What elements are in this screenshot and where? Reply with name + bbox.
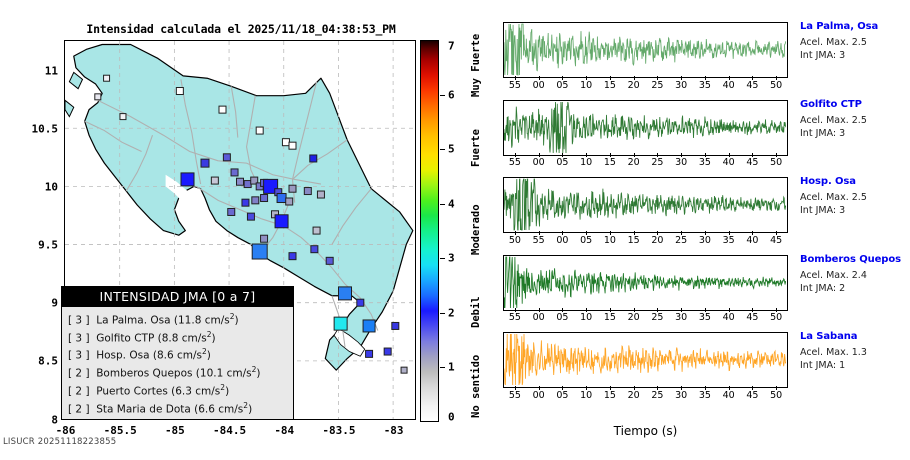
jma-legend-row: [ 2 ] Sta Maria de Dota (6.6 cm/s2)	[68, 399, 289, 417]
waveform-trace	[504, 101, 786, 154]
waveform-time-tick: 00	[533, 80, 545, 91]
waveform-time-axis: 550005101520253035404550	[503, 157, 788, 171]
waveform-time-tick: 15	[604, 80, 616, 91]
waveform-time-tick: 40	[723, 390, 735, 401]
waveform-panel[interactable]	[503, 22, 788, 78]
waveform-jma-intensity: Int JMA: 1	[800, 360, 908, 371]
waveform-time-tick: 50	[770, 157, 782, 168]
waveform-tick-mark	[705, 76, 706, 80]
waveform-tick-mark	[539, 231, 540, 235]
waveform-tick-mark	[539, 153, 540, 157]
waveform-tick-mark	[752, 308, 753, 312]
map-y-tick: 9	[51, 297, 58, 310]
waveform-time-tick: 50	[770, 312, 782, 323]
waveform-max-acceleration: Acel. Max. 1.3	[800, 347, 908, 358]
waveform-time-tick: 55	[533, 235, 545, 246]
waveform-time-tick: 05	[556, 312, 568, 323]
waveform-station-info: La Palma, OsaAcel. Max. 2.5Int JMA: 3	[800, 21, 908, 61]
colorbar-category-label: Debil	[470, 296, 482, 328]
waveform-tick-mark	[634, 153, 635, 157]
waveform-time-tick: 35	[699, 312, 711, 323]
waveform-station-name[interactable]: Bomberos Quepos	[800, 254, 908, 265]
waveform-jma-intensity: Int JMA: 3	[800, 205, 908, 216]
waveform-tick-mark	[705, 386, 706, 390]
waveform-tick-mark	[705, 231, 706, 235]
waveform-tick-mark	[634, 308, 635, 312]
colorbar-category-label: Fuerte	[470, 129, 482, 167]
map-x-tick: -84.5	[213, 424, 246, 437]
waveform-tick-mark	[634, 386, 635, 390]
waveform-tick-mark	[562, 231, 563, 235]
waveform-time-tick: 50	[509, 235, 521, 246]
waveform-tick-mark	[562, 153, 563, 157]
waveform-time-tick: 30	[675, 390, 687, 401]
waveform-tick-mark	[705, 308, 706, 312]
waveform-time-tick: 20	[628, 157, 640, 168]
colorbar-tick-mark	[440, 367, 445, 368]
waveform-tick-mark	[562, 76, 563, 80]
waveform-tick-mark	[729, 231, 730, 235]
waveform-time-tick: 05	[556, 157, 568, 168]
map-y-axis: 1110.5109.598.58	[0, 40, 58, 420]
waveform-tick-mark	[657, 386, 658, 390]
seismic-intensity-report: Intensidad calculada el 2025/11/18_04:38…	[0, 0, 910, 460]
waveform-station-info: Golfito CTPAcel. Max. 2.5Int JMA: 3	[800, 99, 908, 139]
waveform-time-tick: 50	[770, 390, 782, 401]
waveform-tick-mark	[752, 231, 753, 235]
colorbar-tick-label: 5	[448, 143, 455, 156]
waveform-tick-mark	[657, 153, 658, 157]
waveform-tick-mark	[776, 308, 777, 312]
colorbar-category-label: Moderado	[470, 204, 482, 255]
waveform-tick-mark	[681, 386, 682, 390]
waveform-tick-mark	[610, 386, 611, 390]
waveform-jma-intensity: Int JMA: 2	[800, 283, 908, 294]
waveform-time-tick: 25	[651, 390, 663, 401]
waveform-panel[interactable]	[503, 177, 788, 233]
waveform-tick-mark	[752, 153, 753, 157]
jma-legend-row: [ 3 ] Hosp. Osa (8.6 cm/s2)	[68, 345, 289, 363]
waveform-tick-mark	[657, 231, 658, 235]
waveform-time-axis: 550005101520253035404550	[503, 312, 788, 326]
waveform-time-tick: 45	[746, 390, 758, 401]
waveform-time-tick: 35	[723, 235, 735, 246]
map-y-tick: 10.5	[32, 122, 59, 135]
waveform-station-info: Bomberos QueposAcel. Max. 2.4Int JMA: 2	[800, 254, 908, 294]
waveform-tick-mark	[539, 386, 540, 390]
waveform-tick-mark	[586, 153, 587, 157]
waveform-time-tick: 10	[580, 390, 592, 401]
waveform-station-info: La SabanaAcel. Max. 1.3Int JMA: 1	[800, 331, 908, 371]
watermark: LISUCR 20251118223855	[3, 437, 116, 447]
waveform-panel[interactable]	[503, 255, 788, 311]
jma-legend-title: INTENSIDAD JMA [0 a 7]	[62, 287, 293, 307]
map-y-tick: 8.5	[38, 355, 58, 368]
waveform-time-tick: 30	[675, 157, 687, 168]
waveform-time-tick: 05	[556, 80, 568, 91]
waveform-tick-mark	[586, 231, 587, 235]
colorbar-tick-label: 2	[448, 306, 455, 319]
waveform-station-name[interactable]: Golfito CTP	[800, 99, 908, 110]
waveform-time-tick: 00	[533, 312, 545, 323]
jma-legend-row: [ 3 ] Golfito CTP (8.8 cm/s2)	[68, 328, 289, 346]
waveform-time-tick: 55	[509, 390, 521, 401]
waveform-time-axis: 550005101520253035404550	[503, 390, 788, 404]
jma-legend-box: INTENSIDAD JMA [0 a 7] [ 3 ] La Palma. O…	[61, 286, 294, 420]
waveform-tick-mark	[681, 308, 682, 312]
waveform-time-tick: 45	[746, 80, 758, 91]
waveform-tick-mark	[729, 386, 730, 390]
waveform-tick-mark	[610, 153, 611, 157]
waveform-tick-mark	[729, 76, 730, 80]
waveform-time-tick: 55	[509, 80, 521, 91]
waveform-tick-mark	[776, 76, 777, 80]
map-y-tick: 10	[45, 180, 58, 193]
waveform-time-tick: 35	[699, 390, 711, 401]
waveform-station-name[interactable]: La Palma, Osa	[800, 21, 908, 32]
colorbar-gradient	[420, 40, 439, 422]
colorbar-tick-mark	[440, 95, 445, 96]
waveform-time-tick: 40	[723, 157, 735, 168]
jma-legend-list: [ 3 ] La Palma. Osa (11.8 cm/s2)[ 3 ] Go…	[62, 307, 293, 419]
waveform-max-acceleration: Acel. Max. 2.4	[800, 270, 908, 281]
waveform-time-tick: 00	[556, 235, 568, 246]
waveform-tick-mark	[657, 308, 658, 312]
waveform-time-tick: 40	[746, 235, 758, 246]
waveform-tick-mark	[634, 231, 635, 235]
waveform-tick-mark	[562, 308, 563, 312]
waveform-tick-mark	[610, 308, 611, 312]
colorbar-tick-label: 3	[448, 252, 455, 265]
waveform-time-tick: 25	[651, 312, 663, 323]
waveform-time-tick: 15	[604, 390, 616, 401]
intensity-colorbar: 01234567No sentidoDebilModeradoFuerteMuy…	[420, 40, 492, 422]
waveform-tick-mark	[657, 76, 658, 80]
map-x-tick: -83.5	[322, 424, 355, 437]
waveform-time-tick: 55	[509, 157, 521, 168]
waveform-trace	[504, 333, 786, 386]
waveform-time-tick: 00	[533, 157, 545, 168]
waveform-tick-mark	[515, 308, 516, 312]
waveform-tick-mark	[586, 386, 587, 390]
colorbar-tick-label: 6	[448, 88, 455, 101]
waveform-panel[interactable]	[503, 100, 788, 156]
waveform-tick-mark	[776, 153, 777, 157]
waveform-time-tick: 40	[723, 312, 735, 323]
waveform-max-acceleration: Acel. Max. 2.5	[800, 192, 908, 203]
map-x-tick: -86	[56, 424, 76, 437]
waveform-time-tick: 10	[604, 235, 616, 246]
waveform-time-tick: 25	[651, 80, 663, 91]
jma-legend-row: [ 2 ] Puerto Cortes (6.3 cm/s2)	[68, 381, 289, 399]
waveform-jma-intensity: Int JMA: 3	[800, 128, 908, 139]
waveform-time-tick: 15	[604, 157, 616, 168]
waveform-time-tick: 35	[699, 157, 711, 168]
colorbar-tick-label: 7	[448, 40, 455, 53]
waveform-time-tick: 20	[651, 235, 663, 246]
waveform-time-tick: 20	[628, 390, 640, 401]
waveform-time-tick: 00	[533, 390, 545, 401]
waveform-tick-mark	[610, 231, 611, 235]
waveform-time-tick: 20	[628, 80, 640, 91]
waveform-time-axis: 550005101520253035404550	[503, 80, 788, 94]
colorbar-tick-label: 4	[448, 197, 455, 210]
map-y-tick: 9.5	[38, 239, 58, 252]
waveform-tick-mark	[515, 386, 516, 390]
waveform-time-tick: 15	[628, 235, 640, 246]
waveform-tick-mark	[586, 76, 587, 80]
colorbar-tick-label: 1	[448, 361, 455, 374]
waveform-max-acceleration: Acel. Max. 2.5	[800, 37, 908, 48]
waveform-tick-mark	[539, 308, 540, 312]
colorbar-tick-mark	[440, 258, 445, 259]
waveform-tick-mark	[610, 76, 611, 80]
waveform-tick-mark	[515, 153, 516, 157]
waveform-time-tick: 50	[770, 80, 782, 91]
waveform-time-tick: 30	[699, 235, 711, 246]
waveform-time-tick: 25	[675, 235, 687, 246]
waveform-tick-mark	[752, 386, 753, 390]
colorbar-tick-mark	[440, 313, 445, 314]
waveform-time-tick: 20	[628, 312, 640, 323]
waveform-tick-mark	[681, 76, 682, 80]
waveform-time-tick: 10	[580, 157, 592, 168]
waveform-trace	[504, 178, 786, 231]
waveform-time-tick: 45	[746, 157, 758, 168]
waveform-time-tick: 05	[580, 235, 592, 246]
waveform-tick-mark	[681, 231, 682, 235]
waveform-tick-mark	[634, 76, 635, 80]
waveform-time-tick: 10	[580, 312, 592, 323]
waveform-trace	[504, 23, 786, 76]
waveform-tick-mark	[586, 308, 587, 312]
map-x-axis: -86-85.5-85-84.5-84-83.5-83	[64, 424, 416, 440]
waveform-trace	[504, 256, 786, 309]
waveform-tick-mark	[562, 386, 563, 390]
waveform-time-tick: 05	[556, 390, 568, 401]
waveform-tick-mark	[729, 308, 730, 312]
colorbar-tick-mark	[440, 204, 445, 205]
colorbar-tick-label: 0	[448, 411, 455, 424]
waveform-time-axis: 505500051015202530354045	[503, 235, 788, 249]
waveform-max-acceleration: Acel. Max. 2.5	[800, 115, 908, 126]
waveform-time-tick: 35	[699, 80, 711, 91]
map-x-tick: -83	[384, 424, 404, 437]
waveform-tick-mark	[539, 76, 540, 80]
waveform-time-tick: 30	[675, 312, 687, 323]
colorbar-category-label: No sentido	[470, 355, 482, 418]
waveform-x-axis-label: Tiempo (s)	[503, 424, 788, 438]
waveform-time-tick: 10	[580, 80, 592, 91]
colorbar-tick-mark	[440, 149, 445, 150]
waveform-time-tick: 15	[604, 312, 616, 323]
waveform-jma-intensity: Int JMA: 3	[800, 50, 908, 61]
waveform-tick-mark	[515, 76, 516, 80]
waveform-time-tick: 25	[651, 157, 663, 168]
waveform-panel[interactable]	[503, 332, 788, 388]
waveform-station-name[interactable]: La Sabana	[800, 331, 908, 342]
map-x-tick: -85	[165, 424, 185, 437]
waveform-tick-mark	[776, 231, 777, 235]
waveform-tick-mark	[705, 153, 706, 157]
jma-legend-row: [ 3 ] La Palma. Osa (11.8 cm/s2)	[68, 310, 289, 328]
map-title: Intensidad calculada el 2025/11/18_04:38…	[66, 22, 416, 36]
waveform-tick-mark	[681, 153, 682, 157]
waveform-station-info: Hosp. OsaAcel. Max. 2.5Int JMA: 3	[800, 176, 908, 216]
waveform-tick-mark	[776, 386, 777, 390]
map-y-tick: 11	[45, 64, 58, 77]
waveform-tick-mark	[752, 76, 753, 80]
waveform-tick-mark	[515, 231, 516, 235]
waveform-time-tick: 45	[746, 312, 758, 323]
map-x-tick: -84	[274, 424, 294, 437]
waveform-tick-mark	[729, 153, 730, 157]
jma-legend-row: [ 2 ] Bomberos Quepos (10.1 cm/s2)	[68, 363, 289, 381]
waveform-station-name[interactable]: Hosp. Osa	[800, 176, 908, 187]
waveform-time-tick: 45	[770, 235, 782, 246]
waveform-time-tick: 55	[509, 312, 521, 323]
colorbar-category-label: Muy Fuerte	[470, 34, 482, 97]
waveform-time-tick: 40	[723, 80, 735, 91]
map-x-tick: -85.5	[104, 424, 137, 437]
waveform-time-tick: 30	[675, 80, 687, 91]
